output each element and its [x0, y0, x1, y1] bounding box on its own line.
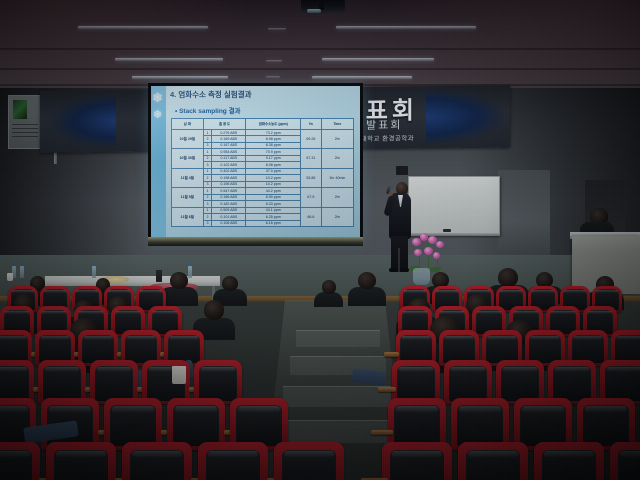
cell-time: 2hr [321, 149, 353, 168]
cell-time: 1hr 40min [321, 168, 353, 187]
seat-highlight [112, 406, 154, 412]
seat-highlight [588, 311, 612, 315]
seat-highlight [459, 406, 501, 412]
seat-highlight [514, 311, 538, 315]
slide-bullet: • Stack sampling 결과 [175, 105, 241, 115]
seat-highlight [45, 367, 80, 372]
ceiling-light [312, 76, 412, 79]
wall-speaker [396, 166, 408, 175]
seat-highlight [451, 367, 486, 372]
auditorium-seat [198, 442, 268, 480]
water-bottle [92, 266, 96, 278]
orchid-flower [424, 247, 433, 255]
poster-text-lines [12, 124, 38, 142]
ceiling-light [268, 28, 286, 30]
seat-highlight [0, 451, 30, 458]
orchid-flower [433, 252, 440, 259]
audience-member-head [170, 272, 188, 289]
auditorium-seat [122, 442, 192, 480]
seat-highlight [41, 336, 70, 340]
seat-highlight [127, 336, 156, 340]
seat-highlight [620, 451, 640, 458]
auditorium-seat [610, 442, 640, 480]
seat-highlight [49, 406, 91, 412]
whiteboard [408, 176, 500, 236]
cell-date: 11월 5일 [172, 188, 204, 207]
audience-member-shoulders [314, 292, 343, 307]
auditorium-photo-scene: 대구대 발표회 대구 발표회 일시 : 2009. 11. 20(금) 대구대학… [0, 0, 640, 480]
seat-highlight [175, 406, 217, 412]
table-header-row: 날 짜 흡 광 도 염화수소농도 (ppm) Vs Time [172, 119, 354, 130]
seat-highlight [238, 406, 280, 412]
cell-vs: 53.86 [301, 168, 321, 187]
seat-highlight [531, 336, 560, 340]
col-header-vs: Vs [301, 119, 321, 130]
col-header-absorbance: 흡 광 도 [203, 119, 246, 130]
seat-highlight [140, 290, 162, 293]
seat-highlight [402, 336, 431, 340]
seat-highlight [468, 451, 518, 458]
seat-highlight [544, 451, 594, 458]
seat-highlight [585, 406, 627, 412]
seat-highlight [607, 367, 640, 372]
ceiling-light [115, 58, 223, 61]
seat-highlight [0, 336, 26, 340]
seat-highlight [532, 290, 554, 293]
seat-highlight [551, 311, 575, 315]
water-bottle [188, 266, 192, 278]
flower-vase [413, 268, 430, 285]
col-header-time: Time [321, 119, 353, 130]
orchid-stem [428, 240, 429, 270]
presenter-shoe [400, 268, 409, 272]
cell-date: 10월 29일 [172, 130, 204, 149]
cell-vs: 67.5 [301, 188, 321, 207]
auditorium-seat [274, 442, 344, 480]
cell-date: 11월 4일 [172, 168, 204, 187]
seat-highlight [440, 311, 464, 315]
seat-highlight [201, 367, 236, 372]
snowflake-icon: ❄ [152, 90, 163, 106]
seat-highlight [477, 311, 501, 315]
cell-vs: 67.31 [301, 149, 321, 168]
seat-armrest [384, 352, 399, 357]
seat-highlight [76, 290, 98, 293]
ceiling-light [266, 76, 280, 78]
seat-highlight [79, 311, 103, 315]
seat-highlight [108, 290, 130, 293]
orchid-flower [414, 249, 422, 256]
cell-vs: 69.26 [301, 130, 321, 149]
seat-highlight [522, 406, 564, 412]
audience-member-head [322, 280, 336, 294]
auditorium-seat [534, 442, 604, 480]
orchid-flower [436, 241, 444, 248]
seat-highlight [445, 336, 474, 340]
banner-subtitle-right: 발표회 [366, 119, 402, 131]
seat-highlight [488, 336, 517, 340]
seat-highlight [208, 451, 258, 458]
seat-highlight [97, 367, 132, 372]
ceiling-light [322, 58, 434, 61]
ceiling-beam [0, 68, 640, 70]
cell-time: 2hr [321, 130, 353, 149]
seat-highlight [44, 290, 66, 293]
seat-highlight [12, 290, 34, 293]
seat-highlight [170, 336, 199, 340]
seat-highlight [617, 336, 640, 340]
col-header-date: 날 짜 [172, 119, 204, 130]
seat-highlight [0, 367, 27, 372]
paper-cup [7, 273, 13, 281]
auditorium-seat [382, 442, 452, 480]
seat-highlight [5, 311, 29, 315]
seat-highlight [468, 290, 490, 293]
seat-highlight [436, 290, 458, 293]
seat-highlight [596, 290, 618, 293]
auditorium-seat [458, 442, 528, 480]
seat-highlight [564, 290, 586, 293]
cell-concentration: 6.16 ppm [246, 220, 301, 226]
projected-slide: ❄ ❄ 4. 염화수소 측정 실험결과 • Stack sampling 결과 … [151, 86, 360, 238]
cell-index: 3 [203, 220, 212, 226]
seat-highlight [153, 311, 177, 315]
canister [156, 270, 162, 282]
auditorium-seat [46, 442, 116, 480]
col-header-concentration: 염화수소농도 (ppm) [246, 119, 301, 130]
cell-time: 2hr [321, 207, 353, 226]
seat-highlight [56, 451, 106, 458]
ceiling-light [132, 76, 228, 79]
orchid-flower [420, 233, 428, 241]
slide-results-table: 날 짜 흡 광 도 염화수소농도 (ppm) Vs Time 10월 29일10… [171, 118, 354, 227]
seat-highlight [574, 336, 603, 340]
seat-highlight [42, 311, 66, 315]
seat-highlight [399, 367, 434, 372]
seat-highlight [403, 311, 427, 315]
seat-highlight [116, 311, 140, 315]
seat-highlight [404, 290, 426, 293]
wall-panel-right [498, 170, 550, 256]
seat-armrest [371, 430, 393, 435]
audience-member-head [498, 268, 518, 287]
ceiling-light [336, 26, 476, 29]
cell-vs: 66.6 [301, 207, 321, 226]
ceiling-warm-tint-right [380, 0, 640, 92]
seat-highlight [132, 451, 182, 458]
ceiling-beam [0, 48, 640, 50]
seat-armrest [378, 387, 396, 392]
audience-member-head [222, 276, 238, 291]
aisle-step [283, 386, 391, 407]
orchid-flower [412, 238, 421, 246]
auditorium-seat [0, 442, 40, 480]
poster-logo-icon [13, 100, 27, 119]
audience-member-head [358, 272, 376, 289]
ceiling-light [78, 26, 208, 29]
presenter-shoe [389, 268, 398, 272]
audience-member-shoulders [348, 287, 386, 306]
whiteboard-marker [443, 229, 451, 232]
seat-highlight [392, 451, 442, 458]
cell-absorbance: 0.106 ABS [212, 220, 246, 226]
audience-member-head [204, 300, 224, 320]
snowflake-icon: ❄ [153, 108, 162, 121]
cell-date: 11월 6일 [172, 207, 204, 226]
slide-title: 4. 염화수소 측정 실험결과 [170, 89, 252, 100]
seat-highlight [84, 336, 113, 340]
seat-highlight [555, 367, 590, 372]
cell-date: 10월 30일 [172, 149, 204, 168]
aisle-step [296, 330, 380, 347]
seat-highlight [0, 406, 28, 412]
seat-highlight [396, 406, 438, 412]
ceiling-light [266, 60, 282, 62]
seat-highlight [500, 290, 522, 293]
seat-highlight [503, 367, 538, 372]
screen-bottom-edge [148, 237, 363, 246]
coffee-cup [172, 366, 186, 384]
water-bottle [20, 266, 24, 278]
projector-lens-icon [307, 9, 321, 13]
cell-time: 2hr [321, 188, 353, 207]
seat-highlight [284, 451, 334, 458]
